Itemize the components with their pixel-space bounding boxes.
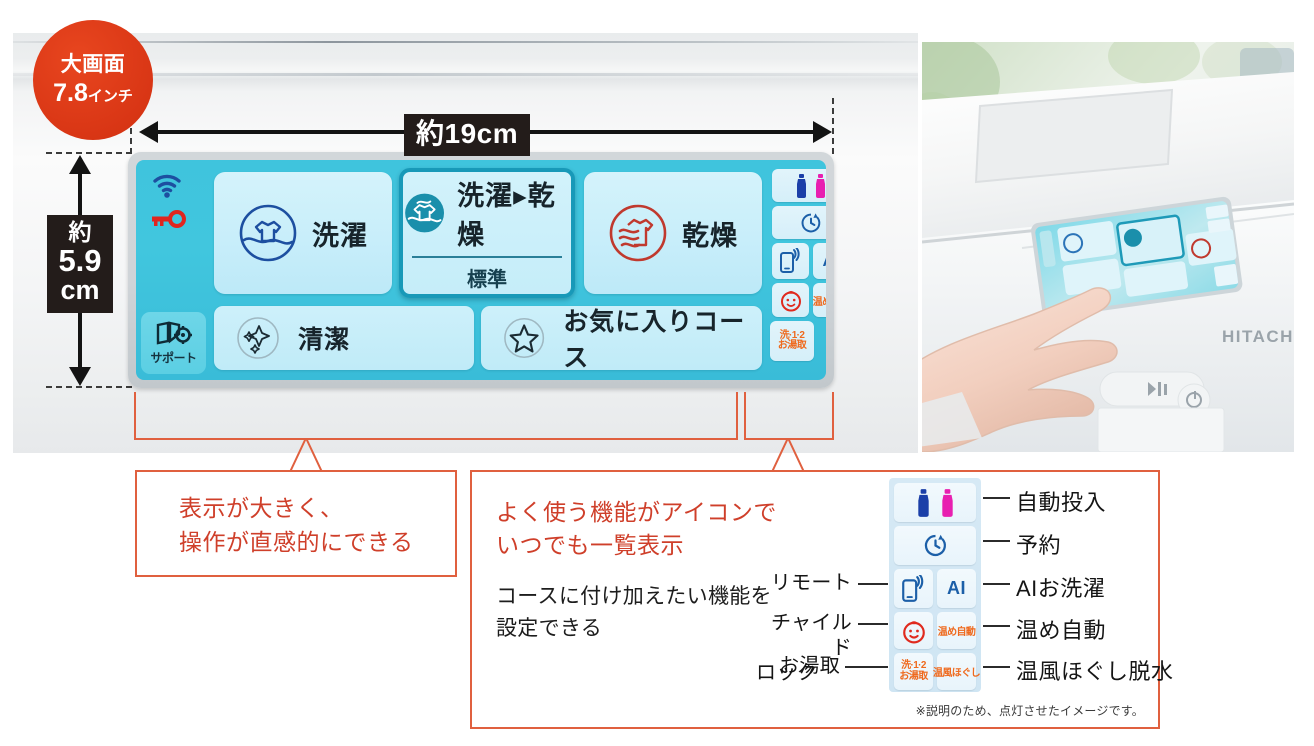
secondary-label-favorite-course: お気に入りコース bbox=[563, 302, 762, 374]
guide-dash-right bbox=[832, 98, 834, 154]
detergent-bottle-blue-icon bbox=[916, 489, 931, 517]
warm-auto-label: 温め自動 bbox=[813, 293, 826, 308]
legend-ai-label: AI bbox=[947, 578, 966, 599]
legend-lead-right-5 bbox=[983, 666, 1010, 668]
callout-right-note: ※説明のため、点灯させたイメージです。 bbox=[916, 702, 1144, 719]
callout-right-body: コースに付け加えたい機能を 設定できる bbox=[496, 581, 772, 644]
legend-label-warm-auto: 温め自動 bbox=[1016, 613, 1106, 645]
legend-label-loosen-spin: 温風ほぐし脱水 bbox=[1016, 654, 1174, 686]
legend-warm-auto-label: 温め自動 bbox=[938, 623, 976, 638]
control-panel-screen[interactable]: サポート 洗濯 bbox=[136, 160, 826, 380]
remote-icon[interactable] bbox=[772, 243, 809, 279]
guide-dash-bottom bbox=[46, 386, 132, 388]
course-sublabel-wash-dry: 標準 bbox=[412, 256, 562, 292]
bracket-right-vertical-end bbox=[832, 392, 834, 440]
leader-left bbox=[270, 438, 350, 472]
height-dimension-label: 約 5.9 cm bbox=[47, 215, 113, 313]
hot-water-label-2: お湯取 bbox=[778, 341, 806, 352]
baby-face-icon bbox=[779, 288, 803, 312]
course-row-wash-dry: 洗濯▸乾燥 bbox=[403, 174, 571, 252]
legend-lead-right-1 bbox=[983, 497, 1010, 499]
course-label-dry: 乾燥 bbox=[682, 214, 738, 253]
child-lock-icon[interactable] bbox=[772, 283, 809, 317]
legend-icon-panel: AI 温め自動 洗·1·2 お湯取 温風ほぐし bbox=[889, 478, 981, 692]
ai-icon[interactable]: AI bbox=[813, 243, 826, 279]
phone-signal-icon bbox=[779, 248, 803, 274]
callout-right-heading: よく使う機能がアイコンで いつでも一覧表示 bbox=[496, 496, 777, 563]
callout-right-head-line2: いつでも一覧表示 bbox=[496, 529, 777, 562]
svg-text:HITACHI: HITACHI bbox=[1222, 327, 1294, 346]
width-arrow-head-right bbox=[813, 121, 832, 143]
legend-loosen-icon: 温風ほぐし bbox=[937, 653, 976, 690]
height-label-value: 5.9 bbox=[47, 245, 113, 277]
clock-icon bbox=[799, 211, 823, 235]
badge-value: 7.8 bbox=[53, 79, 88, 107]
detergent-bottle-blue-icon bbox=[795, 174, 808, 198]
secondary-label-clean: 清潔 bbox=[298, 320, 350, 356]
hot-water-icon[interactable]: 洗·1·2 お湯取 bbox=[770, 321, 814, 361]
legend-lead-left-2 bbox=[858, 623, 888, 625]
height-label-approx: 約 bbox=[47, 221, 113, 244]
bracket-right-vertical-start bbox=[744, 392, 746, 440]
legend-ai-icon: AI bbox=[937, 569, 976, 608]
course-label-wash: 洗濯 bbox=[312, 214, 368, 253]
function-icon-column: AI 温め自動 洗·1·2 お湯取 bbox=[770, 166, 826, 376]
baby-face-icon bbox=[901, 618, 927, 644]
legend-hot-water-label-2: お湯取 bbox=[899, 672, 927, 683]
course-button-wash-dry[interactable]: 洗濯▸乾燥 標準 bbox=[399, 168, 575, 298]
legend-label-child-lock-line1: チャイルド bbox=[771, 612, 852, 659]
legend-remote-icon bbox=[894, 569, 933, 608]
legend-lead-left-1 bbox=[858, 583, 888, 585]
screen-size-badge: 大画面 7.8インチ bbox=[33, 20, 153, 140]
bracket-left-vertical-end bbox=[736, 392, 738, 440]
softener-bottle-pink-icon bbox=[814, 174, 826, 198]
clock-icon bbox=[922, 532, 949, 559]
callout-display-size: 表示が大きく、 操作が直感的にできる bbox=[135, 470, 457, 577]
legend-label-remote: リモート bbox=[768, 571, 852, 596]
ai-label: AI bbox=[823, 251, 827, 271]
badge-line2: 7.8インチ bbox=[53, 79, 133, 107]
legend-reserve-timer-icon bbox=[894, 526, 976, 565]
course-button-wash[interactable]: 洗濯 bbox=[214, 172, 392, 294]
callout-left-line1: 表示が大きく、 bbox=[179, 492, 414, 526]
callout-right-body-line2: 設定できる bbox=[496, 613, 772, 645]
course-label-wash-dry: 洗濯▸乾燥 bbox=[457, 174, 571, 252]
key-icon bbox=[150, 210, 186, 233]
photo-illustration: HITACHI bbox=[922, 42, 1294, 452]
callout-left-text: 表示が大きく、 操作が直感的にできる bbox=[179, 492, 414, 560]
guide-dash-top bbox=[46, 152, 132, 154]
callout-right-body-line1: コースに付け加えたい機能を bbox=[496, 581, 772, 613]
legend-label-auto-dispenser: 自動投入 bbox=[1016, 485, 1106, 517]
wash-shirt-icon bbox=[238, 203, 298, 263]
badge-unit: インチ bbox=[88, 88, 133, 105]
legend-child-lock-icon bbox=[894, 612, 933, 649]
top-section: HITACHI 大画面 7.8インチ 約19cm 約 5.9 cm bbox=[0, 0, 1314, 460]
secondary-button-clean[interactable]: 清潔 bbox=[214, 306, 474, 370]
bracket-left-vertical-start bbox=[134, 392, 136, 440]
wifi-icon bbox=[152, 174, 182, 203]
star-icon bbox=[503, 316, 545, 360]
width-dimension-label: 約19cm bbox=[404, 114, 530, 156]
warm-auto-icon[interactable]: 温め自動 bbox=[813, 283, 826, 317]
softener-bottle-pink-icon bbox=[940, 489, 955, 517]
legend-loosen-label: 温風ほぐし bbox=[933, 664, 980, 679]
phone-signal-icon bbox=[901, 575, 927, 603]
height-arrow-head-top bbox=[69, 155, 91, 174]
legend-warm-auto-icon: 温め自動 bbox=[937, 612, 976, 649]
dry-shirt-icon bbox=[608, 203, 668, 263]
legend-hot-water-icon: 洗·1·2 お湯取 bbox=[894, 653, 933, 690]
height-arrow-head-bottom bbox=[69, 367, 91, 386]
legend-label-ai-wash: AIお洗濯 bbox=[1016, 571, 1105, 603]
reserve-timer-icon[interactable] bbox=[772, 206, 826, 239]
legend-auto-dispenser-icon bbox=[894, 483, 976, 522]
bracket-left-horizontal bbox=[134, 438, 738, 440]
wash-dry-icon bbox=[403, 189, 446, 237]
callout-right-head-line1: よく使う機能がアイコンで bbox=[496, 496, 777, 529]
sparkle-icon bbox=[236, 316, 280, 360]
secondary-button-favorite-course[interactable]: お気に入りコース bbox=[481, 306, 762, 370]
legend-lead-right-2 bbox=[983, 540, 1010, 542]
support-label: サポート bbox=[150, 349, 196, 366]
legend-lead-right-3 bbox=[983, 583, 1010, 585]
legend-label-hot-water: お湯取 bbox=[756, 654, 840, 679]
legend-lead-left-3 bbox=[845, 666, 888, 668]
width-arrow-head-left bbox=[139, 121, 158, 143]
course-button-dry[interactable]: 乾燥 bbox=[584, 172, 762, 294]
legend-label-reserve: 予約 bbox=[1016, 528, 1061, 560]
badge-line1: 大画面 bbox=[61, 53, 126, 77]
callout-left-line2: 操作が直感的にできる bbox=[179, 526, 414, 560]
product-photo: HITACHI bbox=[922, 42, 1294, 452]
control-panel: サポート 洗濯 bbox=[128, 152, 834, 388]
book-gear-icon bbox=[155, 320, 193, 348]
auto-dispenser-icon[interactable] bbox=[772, 169, 826, 202]
leader-right bbox=[752, 438, 832, 472]
legend-hot-water-label-1: 洗·1·2 bbox=[901, 661, 926, 672]
height-label-unit: cm bbox=[47, 277, 113, 305]
legend-lead-right-4 bbox=[983, 625, 1010, 627]
support-button[interactable]: サポート bbox=[141, 312, 206, 374]
